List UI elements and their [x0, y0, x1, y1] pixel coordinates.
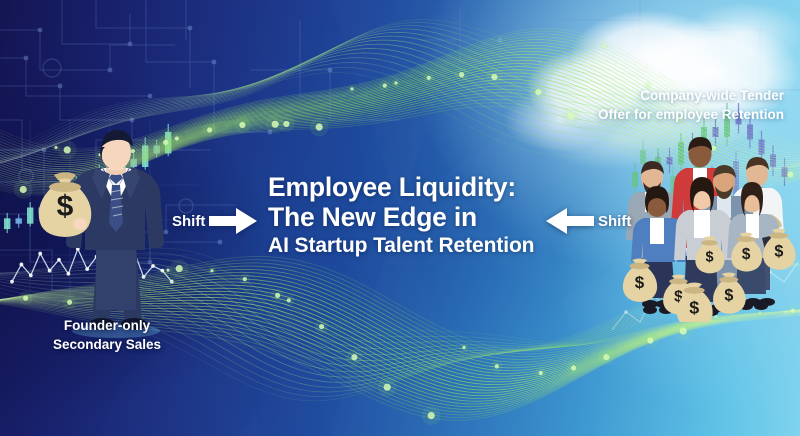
infographic-banner: $	[0, 0, 800, 436]
callout-right: Company-wide Tender Offer for employee R…	[524, 86, 784, 124]
callout-right-line-2: Offer for employee Retention	[524, 105, 784, 124]
shift-indicator-left: Shift	[172, 208, 257, 234]
title-line-2: The New Edge in	[268, 202, 568, 232]
svg-text:$: $	[635, 273, 645, 292]
callout-left-line-1: Founder-only	[22, 316, 192, 335]
employee-group-illustration: $$$$$$$	[612, 132, 800, 322]
svg-text:$: $	[689, 298, 699, 318]
svg-text:$: $	[705, 250, 713, 266]
callout-left: Founder-only Secondary Sales	[22, 316, 192, 354]
title-line-3: AI Startup Talent Retention	[268, 232, 568, 259]
arrow-left-icon	[546, 208, 594, 234]
svg-text:$: $	[742, 246, 751, 263]
arrow-right-icon	[209, 208, 257, 234]
shift-label-left: Shift	[172, 213, 205, 230]
shift-indicator-right: Shift	[546, 208, 631, 234]
svg-text:$: $	[57, 190, 74, 223]
main-title: Employee Liquidity: The New Edge in AI S…	[268, 172, 568, 259]
svg-text:$: $	[724, 287, 733, 305]
svg-text:$: $	[774, 243, 783, 261]
callout-right-line-1: Company-wide Tender	[524, 86, 784, 105]
callout-left-line-2: Secondary Sales	[22, 335, 192, 354]
shift-label-right: Shift	[598, 213, 631, 230]
title-line-1: Employee Liquidity:	[268, 172, 568, 202]
founder-illustration: $	[10, 128, 190, 343]
